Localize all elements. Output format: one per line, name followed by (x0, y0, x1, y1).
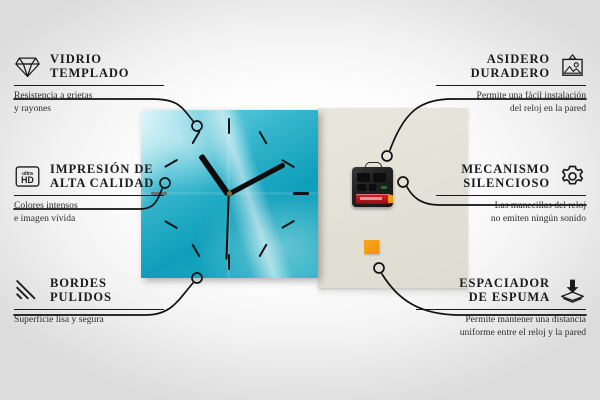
feature-title-line2: PULIDOS (50, 290, 112, 304)
feature-title-line1: BORDES (50, 276, 107, 290)
feature-header: ESPACIADOR DE ESPUMA (416, 276, 586, 305)
feature-desc-line2: e imagen vívida (14, 213, 164, 226)
feature-header: MECANISMO SILENCIOSO (436, 162, 586, 191)
feature-titles: BORDES PULIDOS (50, 276, 112, 305)
press-foam-icon (559, 278, 586, 303)
feature-desc-line1: Superficie lisa y segura (14, 314, 164, 327)
feature-mecanismo-silencioso: MECANISMO SILENCIOSO Las manecillas del … (436, 162, 586, 226)
feature-bordes-pulidos: BORDES PULIDOS Superficie lisa y segura (14, 276, 164, 327)
feature-title-line1: ESPACIADOR (459, 276, 550, 290)
feature-desc-line1: Las manecillas del reloj (436, 200, 586, 213)
feature-title-line2: TEMPLADO (50, 66, 129, 80)
feature-divider (416, 309, 586, 311)
feature-title-line1: VIDRIO (50, 52, 102, 66)
feature-title-line1: ASIDERO (487, 52, 550, 66)
feature-desc-line2: y rayones (14, 103, 164, 116)
feature-asidero-duradero: ASIDERO DURADERO Permite una fácil insta… (436, 52, 586, 116)
infographic-canvas: VIDRIO TEMPLADO Resistencia a grietas y … (0, 0, 600, 400)
diamond-icon (14, 54, 41, 79)
feature-header: ASIDERO DURADERO (436, 52, 586, 81)
feature-vidrio-templado: VIDRIO TEMPLADO Resistencia a grietas y … (14, 52, 164, 116)
feature-impresion-alta-calidad: ultra HD IMPRESIÓN DE ALTA CALIDAD Color… (14, 162, 164, 226)
feature-divider (436, 85, 586, 87)
feature-title-line1: IMPRESIÓN DE (50, 162, 154, 176)
feature-desc-line1: Permite una fácil instalación (436, 90, 586, 103)
feature-titles: IMPRESIÓN DE ALTA CALIDAD (50, 162, 154, 191)
feature-desc-line1: Permite mantener una distancia (416, 314, 586, 327)
feature-description: Superficie lisa y segura (14, 314, 164, 327)
feature-desc-line2: del reloj en la pared (436, 103, 586, 116)
diagonal-stripes-icon (14, 278, 41, 303)
feature-description: Permite mantener una distancia uniforme … (416, 314, 586, 340)
feature-title-line2: DURADERO (471, 66, 550, 80)
feature-description: Colores intensos e imagen vívida (14, 200, 164, 226)
feature-divider (14, 85, 164, 87)
feature-title-line2: SILENCIOSO (463, 176, 550, 190)
feature-titles: VIDRIO TEMPLADO (50, 52, 129, 81)
connector-dot-espaciador (374, 263, 384, 273)
feature-divider (14, 309, 164, 311)
feature-desc-line1: Colores intensos (14, 200, 164, 213)
feature-header: BORDES PULIDOS (14, 276, 164, 305)
feature-desc-line2: uniforme entre el reloj y la pared (416, 327, 586, 340)
ultra-hd-icon: ultra HD (14, 164, 41, 189)
hanging-frame-icon (559, 54, 586, 79)
feature-desc-line2: no emiten ningún sonido (436, 213, 586, 226)
feature-titles: ESPACIADOR DE ESPUMA (459, 276, 550, 305)
feature-description: Las manecillas del reloj no emiten ningú… (436, 200, 586, 226)
feature-titles: ASIDERO DURADERO (471, 52, 550, 81)
connector-dot-mecanismo (398, 177, 408, 187)
feature-divider (436, 195, 586, 197)
connector-dot-bordes-pulidos (192, 273, 202, 283)
feature-description: Permite una fácil instalación del reloj … (436, 90, 586, 116)
feature-titles: MECANISMO SILENCIOSO (461, 162, 550, 191)
feature-header: VIDRIO TEMPLADO (14, 52, 164, 81)
feature-header: ultra HD IMPRESIÓN DE ALTA CALIDAD (14, 162, 164, 191)
feature-espaciador-de-espuma: ESPACIADOR DE ESPUMA Permite mantener un… (416, 276, 586, 340)
feature-title-line1: MECANISMO (461, 162, 550, 176)
feature-title-line2: DE ESPUMA (469, 290, 550, 304)
ultra-hd-big-text: HD (21, 175, 34, 185)
feature-title-line2: ALTA CALIDAD (50, 176, 154, 190)
connector-dot-vidrio-templado (192, 121, 202, 131)
feature-description: Resistencia a grietas y rayones (14, 90, 164, 116)
feature-divider (14, 195, 164, 197)
gear-icon (559, 164, 586, 189)
connector-dot-asidero (382, 151, 392, 161)
feature-desc-line1: Resistencia a grietas (14, 90, 164, 103)
